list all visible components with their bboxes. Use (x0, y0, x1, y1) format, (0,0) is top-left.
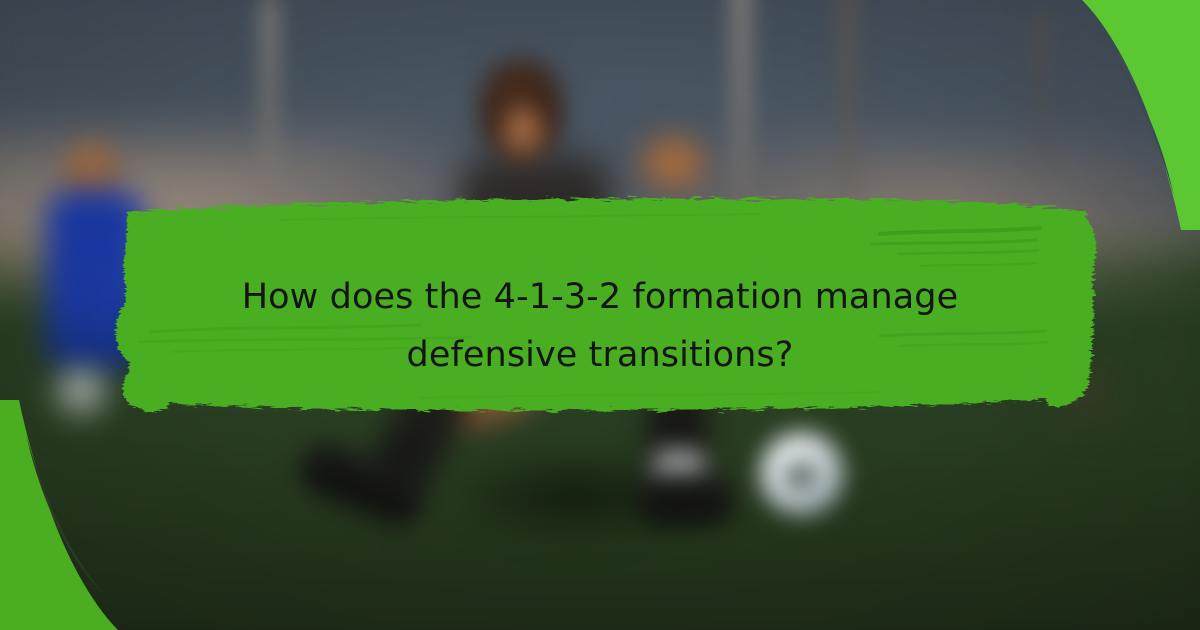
page-title: How does the 4-1-3-2 formation manage de… (150, 268, 1050, 384)
question-card: How does the 4-1-3-2 formation manage de… (0, 0, 1200, 630)
